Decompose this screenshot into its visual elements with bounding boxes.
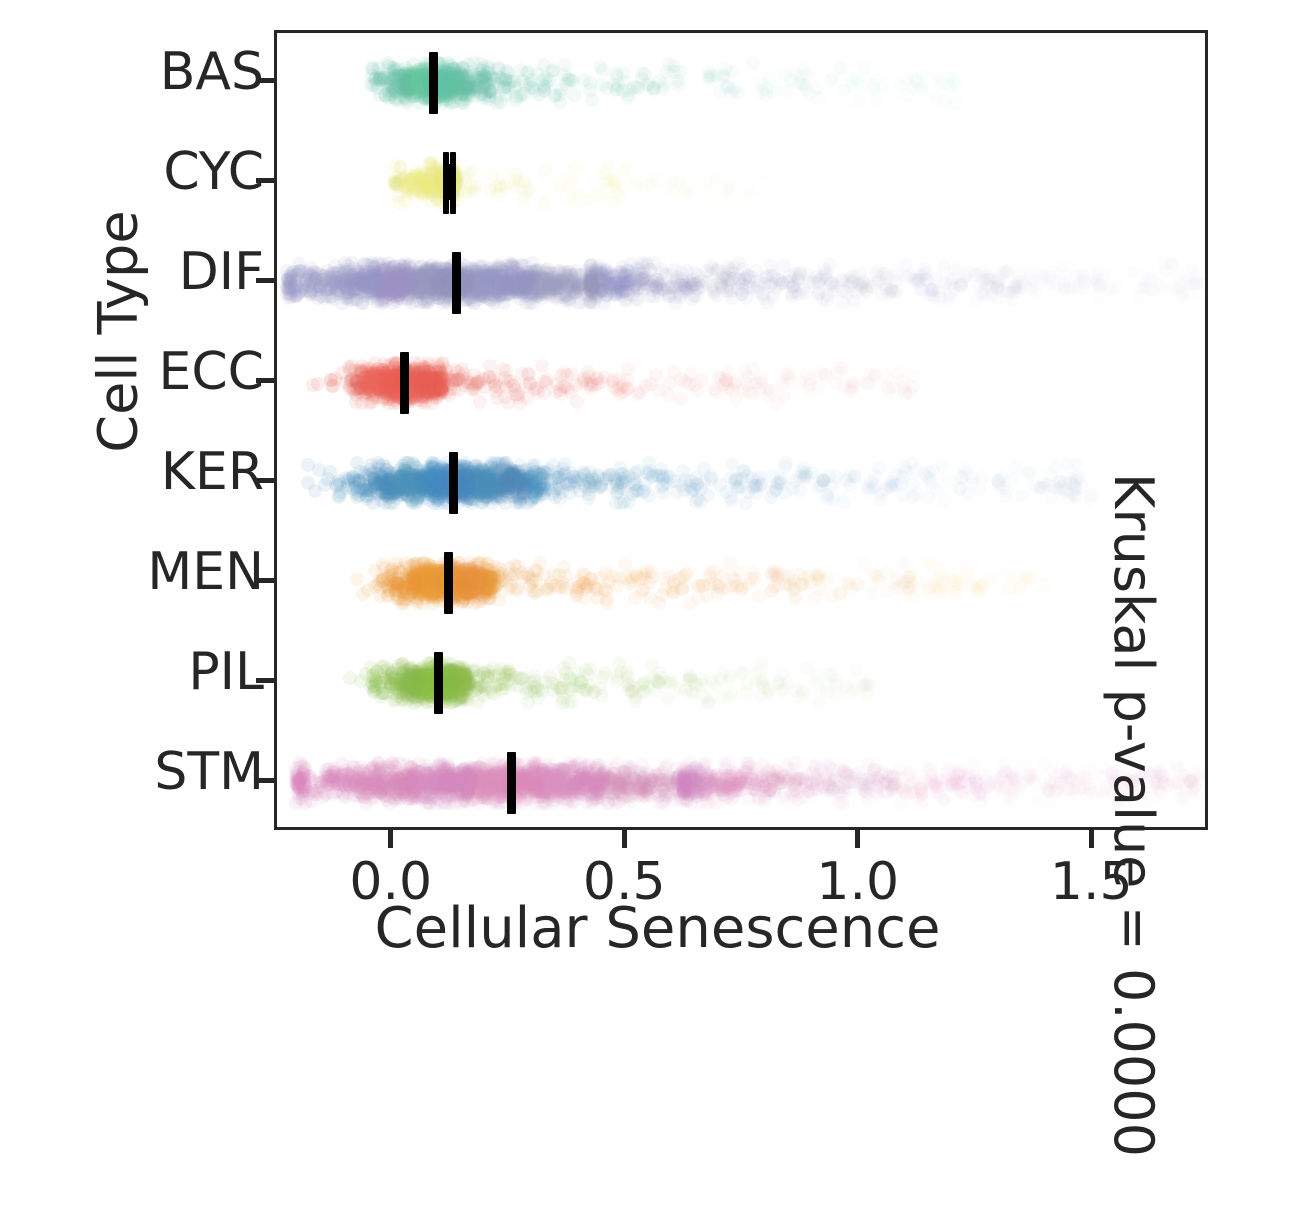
y-tick-mark-stm bbox=[256, 778, 274, 783]
y-tick-mark-dif bbox=[256, 278, 274, 283]
y-tick-label-cyc: CYC bbox=[163, 146, 264, 198]
plot-area[interactable] bbox=[274, 30, 1208, 830]
y-tick-mark-pil bbox=[256, 678, 274, 683]
y-tick-label-ecc: ECC bbox=[159, 346, 264, 398]
y-axis-label: Cell Type bbox=[87, 202, 150, 462]
y-tick-label-men: MEN bbox=[147, 546, 264, 598]
y-tick-label-stm: STM bbox=[154, 746, 264, 798]
figure-root: Cell Type BASCYCDIFECCKERMENPILSTM 0.00.… bbox=[0, 0, 1315, 1007]
y-tick-label-bas: BAS bbox=[160, 46, 264, 98]
y-tick-mark-ker bbox=[256, 478, 274, 483]
y-tick-mark-men bbox=[256, 578, 274, 583]
y-tick-label-dif: DIF bbox=[179, 246, 264, 298]
y-tick-label-ker: KER bbox=[161, 446, 264, 498]
y-tick-label-pil: PIL bbox=[188, 646, 264, 698]
y-tick-mark-bas bbox=[256, 78, 274, 83]
y-tick-mark-cyc bbox=[256, 178, 274, 183]
plot-canvas bbox=[277, 33, 1205, 827]
y-tick-mark-ecc bbox=[256, 378, 274, 383]
